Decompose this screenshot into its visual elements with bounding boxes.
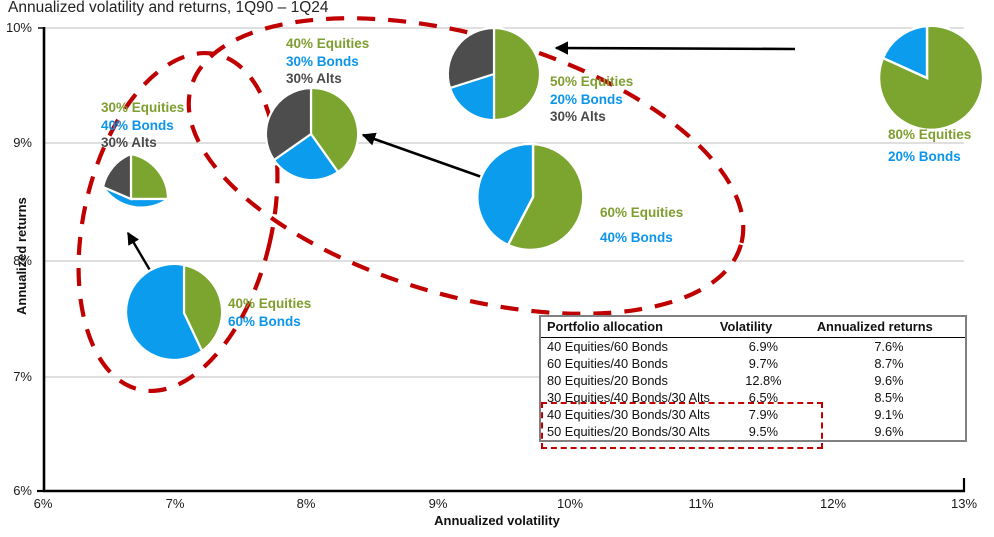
cell-allocation: 30 Equities/40 Bonds/30 Alts	[541, 389, 714, 406]
pie-label-40-30-30: 40% Equities 30% Bonds 30% Alts	[286, 35, 369, 88]
pie-30eq-40bo-30alts	[103, 154, 168, 208]
label-equities: 40% Equities	[286, 35, 369, 53]
x-tick-9: 9%	[408, 496, 468, 511]
x-axis-label: Annualized volatility	[0, 513, 994, 528]
table-row: 60 Equities/40 Bonds9.7%8.7%	[541, 355, 965, 372]
label-equities: 50% Equities	[550, 73, 633, 91]
cell-allocation: 80 Equities/20 Bonds	[541, 372, 714, 389]
x-tick-12: 12%	[803, 496, 863, 511]
label-alts: 30% Alts	[550, 108, 633, 126]
label-equities: 30% Equities	[101, 99, 184, 117]
label-bonds: 40% Bonds	[101, 117, 184, 135]
x-tick-13: 13%	[934, 496, 994, 511]
label-alts: 30% Alts	[101, 134, 184, 152]
pie-50eq-20bo-30alts	[448, 28, 540, 120]
y-tick-7: 7%	[0, 369, 32, 384]
arrow-40eq-to-30eq	[128, 233, 151, 272]
pie-label-80-20: 80% Equities 20% Bonds	[888, 124, 971, 168]
table-header-row: Portfolio allocation Volatility Annualiz…	[541, 317, 965, 338]
cell-allocation: 40 Equities/60 Bonds	[541, 338, 714, 356]
pie-60eq-40bo	[477, 144, 583, 250]
cell-volatility: 6.5%	[714, 389, 811, 406]
cell-returns: 9.1%	[811, 406, 965, 423]
cell-volatility: 7.9%	[714, 406, 811, 423]
arrow-80eq-to-50eq	[556, 48, 795, 49]
cell-allocation: 60 Equities/40 Bonds	[541, 355, 714, 372]
y-tick-9: 9%	[0, 135, 32, 150]
col-returns: Annualized returns	[811, 317, 965, 338]
arrow-60eq-to-40eq	[363, 135, 493, 181]
x-tick-6: 6%	[13, 496, 73, 511]
x-tick-7: 7%	[145, 496, 205, 511]
table-row: 40 Equities/60 Bonds6.9%7.6%	[541, 338, 965, 356]
y-tick-10: 10%	[0, 20, 32, 35]
plot-canvas	[0, 0, 994, 537]
table-row: 40 Equities/30 Bonds/30 Alts7.9%9.1%	[541, 406, 965, 423]
label-equities: 40% Equities	[228, 295, 311, 313]
pie-label-40-60: 40% Equities 60% Bonds	[228, 295, 311, 330]
col-volatility: Volatility	[714, 317, 811, 338]
chart-root: Annualized volatility and returns Annual…	[0, 0, 994, 537]
cell-returns: 7.6%	[811, 338, 965, 356]
cell-returns: 9.6%	[811, 423, 965, 440]
y-axis-label: Annualized returns	[14, 197, 29, 315]
label-equities: 60% Equities	[600, 200, 683, 225]
label-bonds: 30% Bonds	[286, 53, 369, 71]
label-alts: 30% Alts	[286, 70, 369, 88]
pie-label-30-40-30: 30% Equities 40% Bonds 30% Alts	[101, 99, 184, 152]
pie-80eq-20bo	[879, 26, 983, 130]
label-bonds: 20% Bonds	[550, 91, 633, 109]
pie-label-50-20-30: 50% Equities 20% Bonds 30% Alts	[550, 73, 633, 126]
label-equities: 80% Equities	[888, 124, 971, 146]
x-tick-11: 11%	[671, 496, 731, 511]
cell-allocation: 40 Equities/30 Bonds/30 Alts	[541, 406, 714, 423]
cell-returns: 8.7%	[811, 355, 965, 372]
label-bonds: 40% Bonds	[600, 225, 683, 250]
col-allocation: Portfolio allocation	[541, 317, 714, 338]
x-tick-8: 8%	[276, 496, 336, 511]
cell-volatility: 6.9%	[714, 338, 811, 356]
label-bonds: 20% Bonds	[888, 146, 971, 168]
cell-returns: 9.6%	[811, 372, 965, 389]
cell-returns: 8.5%	[811, 389, 965, 406]
pie-label-60-40: 60% Equities 40% Bonds	[600, 200, 683, 250]
cell-volatility: 9.5%	[714, 423, 811, 440]
cell-volatility: 9.7%	[714, 355, 811, 372]
cell-volatility: 12.8%	[714, 372, 811, 389]
pie-40eq-30bo-30alts	[266, 88, 358, 180]
x-tick-10: 10%	[540, 496, 600, 511]
table-row: 50 Equities/20 Bonds/30 Alts9.5%9.6%	[541, 423, 965, 440]
portfolio-allocation-table: Portfolio allocation Volatility Annualiz…	[539, 315, 967, 442]
cell-allocation: 50 Equities/20 Bonds/30 Alts	[541, 423, 714, 440]
label-bonds: 60% Bonds	[228, 313, 311, 331]
table-row: 30 Equities/40 Bonds/30 Alts6.5%8.5%	[541, 389, 965, 406]
table-row: 80 Equities/20 Bonds12.8%9.6%	[541, 372, 965, 389]
pie-40eq-60bo	[126, 264, 222, 360]
